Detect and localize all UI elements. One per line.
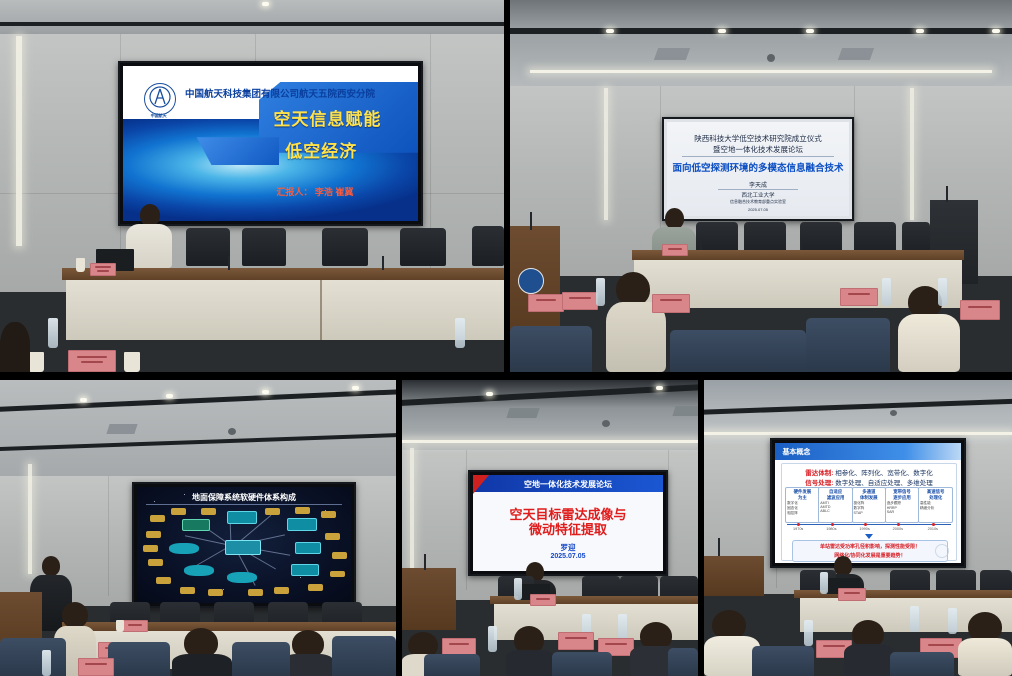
slide-event-line2: 暨空地一体化技术发展论坛 bbox=[667, 144, 849, 155]
mindmap-leaf bbox=[150, 515, 165, 522]
chair bbox=[186, 228, 230, 266]
mindmap-node bbox=[227, 572, 257, 584]
concept-column: 硬件发展 为主 数字化 固态化 相控阵 bbox=[785, 487, 820, 523]
ceiling-vent bbox=[838, 48, 874, 60]
water-bottle bbox=[882, 278, 891, 306]
audience-seat bbox=[0, 638, 66, 676]
row2-value: 数字处理、自适应处理、多维处理 bbox=[835, 480, 933, 487]
presentation-screen: 陕西科技大学低空技术研究院成立仪式 暨空地一体化技术发展论坛 面向低空探测环境的… bbox=[662, 117, 854, 221]
mindmap-leaf bbox=[308, 584, 323, 591]
ceiling bbox=[510, 0, 1012, 86]
mindmap-leaf bbox=[180, 587, 195, 594]
audience-member bbox=[606, 272, 666, 372]
ceiling-spot bbox=[656, 386, 663, 390]
audience-head bbox=[62, 602, 88, 628]
concept-column: 多通道 体制发展 极化阵 数字阵 STAP bbox=[852, 487, 887, 523]
name-placard bbox=[840, 288, 878, 306]
timeline-dot bbox=[797, 523, 800, 526]
timeline-dot bbox=[831, 523, 834, 526]
mindmap-leaf bbox=[274, 587, 289, 594]
column-item: STAP bbox=[854, 511, 885, 515]
wall-seam bbox=[466, 450, 467, 590]
conference-table-body bbox=[66, 280, 504, 340]
mindmap-leaf bbox=[295, 507, 310, 514]
audience-seat bbox=[424, 654, 480, 676]
slide-presenter: 罗迎 bbox=[473, 542, 663, 553]
cup bbox=[76, 258, 85, 272]
slide-header-text: 基本概念 bbox=[782, 447, 810, 457]
callout-line2: 网络化/协同化发展是重要趋势！ bbox=[793, 552, 947, 559]
podium bbox=[402, 568, 456, 630]
table-panel-seam bbox=[320, 280, 322, 340]
water-bottle bbox=[488, 626, 497, 652]
panel-bottom-center: 空地一体化技术发展论坛 空天目标雷达成像与 微动特征提取 罗迎 2025.07.… bbox=[402, 380, 698, 676]
meeting-room-scene: 陕西科技大学低空技术研究院成立仪式 暨空地一体化技术发展论坛 面向低空探测环境的… bbox=[510, 0, 1012, 372]
slide-row1: 雷达体制: 相参化、阵列化、宽带化、数字化 bbox=[782, 467, 957, 477]
audience-torso bbox=[844, 644, 894, 676]
name-placard bbox=[78, 658, 114, 676]
microphone-stand bbox=[718, 538, 720, 556]
slide-canvas: 空地一体化技术发展论坛 空天目标雷达成像与 微动特征提取 罗迎 2025.07.… bbox=[473, 475, 663, 571]
callout-line1: 单站雷达受功率孔径积影响，探测性能受限！ bbox=[793, 543, 947, 550]
microphone bbox=[800, 238, 802, 250]
mindmap-node bbox=[227, 511, 257, 523]
slide-affiliation: 西北工业大学 bbox=[667, 191, 849, 199]
speaker-head bbox=[665, 208, 684, 229]
chair bbox=[472, 226, 504, 266]
name-placard bbox=[562, 292, 598, 310]
audience-head bbox=[0, 322, 30, 372]
slide-presenter-line: 汇报人： 李浩 崔冀 bbox=[276, 185, 353, 198]
timeline-year: 2000s bbox=[886, 527, 909, 531]
water-bottle bbox=[618, 614, 627, 640]
panel-top-right: 陕西科技大学低空技术研究院成立仪式 暨空地一体化技术发展论坛 面向低空探测环境的… bbox=[510, 0, 1012, 372]
ceiling-strip bbox=[0, 22, 504, 26]
microphone bbox=[228, 256, 230, 270]
mindmap-leaf bbox=[171, 508, 186, 515]
cup bbox=[124, 352, 140, 372]
slide-divider bbox=[682, 156, 835, 157]
cove-light bbox=[16, 36, 22, 246]
mindmap-node bbox=[295, 542, 321, 554]
slide-main-title: 面向低空探测环境的多模态信息融合技术 bbox=[667, 160, 849, 174]
mindmap-core-node bbox=[225, 540, 261, 555]
water-bottle bbox=[48, 318, 58, 348]
audience-seat bbox=[670, 330, 806, 372]
logo-label: 中国航天 bbox=[144, 113, 174, 119]
ceiling-vent bbox=[106, 424, 137, 434]
speaker-head bbox=[140, 204, 160, 226]
slide-divider-short bbox=[718, 189, 798, 190]
audience-member bbox=[172, 628, 232, 676]
mindmap-leaf bbox=[321, 511, 336, 518]
microphone bbox=[382, 256, 384, 270]
presentation-screen: 空地一体化技术发展论坛 空天目标雷达成像与 微动特征提取 罗迎 2025.07.… bbox=[468, 470, 668, 576]
cas-logo-icon bbox=[144, 83, 176, 115]
ceiling-spot bbox=[80, 398, 87, 402]
slide-forum-opening: 陕西科技大学低空技术研究院成立仪式 暨空地一体化技术发展论坛 面向低空探测环境的… bbox=[667, 122, 849, 216]
wall-seam bbox=[108, 476, 109, 596]
row2-label: 信号处理: bbox=[805, 480, 833, 487]
slide-title-line2: 低空经济 bbox=[285, 137, 357, 162]
ceiling-spot bbox=[718, 29, 726, 33]
meeting-room-scene: 基本概念 雷达体制: 相参化、阵列化、宽带化、数字化 信号处理: 数字处理、自适… bbox=[704, 380, 1012, 676]
slide-title-line1: 空天信息赋能 bbox=[273, 105, 381, 130]
photo-collage: 中国航天 中国航天科技集团有限公司航天五院西安分院 空天信息赋能 低空经济 汇报… bbox=[0, 0, 1012, 676]
audience-member bbox=[958, 612, 1012, 676]
timeline-year: 1970s bbox=[787, 527, 810, 531]
timeline-year: 2010s bbox=[921, 527, 944, 531]
timeline-axis bbox=[787, 524, 951, 525]
concept-column: 宽带信号 逐步应用 逐步跟踪 HRRP SAR bbox=[885, 487, 920, 523]
podium-microphone bbox=[530, 212, 532, 230]
meeting-room-scene: 地面保障系统软硬件体系构成 bbox=[0, 380, 396, 676]
down-arrow-icon bbox=[865, 534, 873, 539]
ceiling-spot bbox=[166, 394, 173, 398]
slide-mindmap: 地面保障系统软硬件体系构成 bbox=[137, 487, 351, 603]
speaker-head bbox=[42, 556, 60, 576]
cove-light-vertical bbox=[410, 448, 414, 568]
cup bbox=[28, 352, 44, 372]
mindmap-leaf bbox=[208, 589, 223, 596]
ceiling-spot bbox=[916, 29, 924, 33]
audience-seat bbox=[890, 652, 954, 676]
name-placard bbox=[68, 350, 116, 372]
meeting-room-scene: 中国航天 中国航天科技集团有限公司航天五院西安分院 空天信息赋能 低空经济 汇报… bbox=[0, 0, 504, 372]
mindmap-node bbox=[184, 565, 214, 577]
name-placard bbox=[90, 263, 116, 276]
slide-canvas: 中国航天 中国航天科技集团有限公司航天五院西安分院 空天信息赋能 低空经济 汇报… bbox=[123, 66, 418, 221]
mindmap-leaf bbox=[265, 508, 280, 515]
conclusion-callout: 单站雷达受功率孔径积影响，探测性能受限！ 网络化/协同化发展是重要趋势！ bbox=[792, 540, 948, 562]
slide-event-line1: 陕西科技大学低空技术研究院成立仪式 bbox=[667, 133, 849, 144]
water-bottle bbox=[938, 278, 947, 306]
meeting-room-scene: 空地一体化技术发展论坛 空天目标雷达成像与 微动特征提取 罗迎 2025.07.… bbox=[402, 380, 698, 676]
audience-seat bbox=[232, 642, 290, 676]
slide-basic-concepts: 基本概念 雷达体制: 相参化、阵列化、宽带化、数字化 信号处理: 数字处理、自适… bbox=[775, 443, 961, 563]
ceiling-spot bbox=[486, 392, 493, 396]
microphone-stand bbox=[946, 186, 948, 202]
ceiling-light bbox=[262, 2, 269, 6]
slide-title-rule bbox=[146, 504, 343, 505]
podium-microphone bbox=[424, 554, 426, 570]
mindmap-leaf bbox=[148, 559, 163, 566]
presentation-screen: 中国航天 中国航天科技集团有限公司航天五院西安分院 空天信息赋能 低空经济 汇报… bbox=[118, 61, 423, 226]
mindmap-leaf bbox=[325, 533, 340, 540]
mindmap-leaf bbox=[332, 552, 347, 559]
ceiling-vent bbox=[506, 408, 539, 418]
concept-column: 高速信号 处理化 高性能 精细分析 bbox=[918, 487, 953, 523]
side-desk bbox=[704, 556, 764, 596]
audience-torso bbox=[958, 638, 1012, 676]
water-bottle bbox=[804, 620, 813, 646]
water-bottle bbox=[910, 606, 919, 632]
water-bottle bbox=[455, 318, 465, 348]
audience-member bbox=[506, 626, 554, 676]
slide-canvas: 陕西科技大学低空技术研究院成立仪式 暨空地一体化技术发展论坛 面向低空探测环境的… bbox=[667, 122, 849, 216]
cove-light-vertical bbox=[910, 88, 914, 220]
timeline-year: 1990s bbox=[853, 527, 876, 531]
ceiling-spot bbox=[262, 390, 269, 394]
ceiling-spot bbox=[352, 386, 359, 390]
column-item: 相控阵 bbox=[787, 511, 818, 516]
panel-top-left: 中国航天 中国航天科技集团有限公司航天五院西安分院 空天信息赋能 低空经济 汇报… bbox=[0, 0, 504, 372]
mindmap-leaf bbox=[201, 508, 216, 515]
name-placard bbox=[558, 632, 594, 650]
column-item: ABLC bbox=[820, 509, 851, 513]
cove-light bbox=[704, 432, 1012, 435]
audience-seat bbox=[668, 648, 698, 676]
mindmap-leaf bbox=[143, 545, 158, 552]
column-item: SAR bbox=[887, 510, 918, 514]
dome-camera-icon bbox=[602, 420, 610, 427]
slide-header-text: 空地一体化技术发展论坛 bbox=[473, 479, 663, 490]
column-item: 精细分析 bbox=[920, 506, 951, 511]
name-placard bbox=[838, 588, 866, 601]
timeline-dot bbox=[932, 523, 935, 526]
mindmap-node bbox=[291, 564, 319, 576]
audience-head bbox=[616, 272, 650, 306]
audience-seat bbox=[552, 652, 612, 676]
name-placard bbox=[662, 244, 688, 256]
name-placard bbox=[528, 294, 564, 312]
audience-torso bbox=[898, 314, 960, 372]
audience-seat bbox=[806, 318, 890, 372]
slide-header-bar: 空地一体化技术发展论坛 bbox=[473, 475, 663, 492]
slide-title-line2: 微动特征提取 bbox=[473, 519, 663, 538]
name-placard bbox=[652, 294, 690, 313]
mindmap-node bbox=[287, 518, 317, 530]
cove-light bbox=[530, 70, 992, 73]
presentation-screen: 地面保障系统软硬件体系构成 bbox=[132, 482, 356, 608]
water-bottle bbox=[42, 650, 51, 676]
panel-bottom-right: 基本概念 雷达体制: 相参化、阵列化、宽带化、数字化 信号处理: 数字处理、自适… bbox=[704, 380, 1012, 676]
mindmap-leaf bbox=[146, 531, 161, 538]
slide-canvas: 基本概念 雷达体制: 相参化、阵列化、宽带化、数字化 信号处理: 数字处理、自适… bbox=[775, 443, 961, 563]
audience-member bbox=[844, 620, 894, 676]
dome-camera-icon bbox=[767, 54, 775, 62]
slide-title: 地面保障系统软硬件体系构成 bbox=[137, 492, 351, 503]
timeline-year: 1980s bbox=[820, 527, 843, 531]
slide-row2: 信号处理: 数字处理、自适应处理、多维处理 bbox=[782, 477, 957, 487]
ceiling-vent bbox=[672, 406, 698, 416]
slide-header-bar: 基本概念 bbox=[775, 443, 961, 460]
concept-column: 自适应 滤波应用 AMTI AMTD ABLC bbox=[818, 487, 853, 523]
cove-light-vertical bbox=[604, 88, 608, 220]
chair bbox=[322, 228, 368, 266]
audience-seat bbox=[108, 642, 170, 676]
ceiling-vent bbox=[654, 48, 690, 60]
speaker-head bbox=[834, 556, 852, 576]
water-bottle bbox=[596, 278, 605, 306]
mindmap-leaf bbox=[156, 577, 171, 584]
mindmap-leaf bbox=[248, 589, 263, 596]
ceiling-spot bbox=[992, 29, 1000, 33]
audience-seat bbox=[510, 326, 592, 372]
mindmap-leaf bbox=[330, 571, 345, 578]
ceiling-spot bbox=[806, 29, 814, 33]
ceiling-spot bbox=[606, 29, 614, 33]
mindmap-node bbox=[182, 519, 210, 530]
audience-member bbox=[898, 286, 960, 372]
water-bottle bbox=[820, 572, 828, 594]
mindmap-node bbox=[169, 543, 199, 555]
name-placard bbox=[960, 300, 1000, 320]
presentation-screen: 基本概念 雷达体制: 相参化、阵列化、宽带化、数字化 信号处理: 数字处理、自适… bbox=[770, 438, 966, 568]
chair bbox=[242, 228, 286, 266]
cove-light bbox=[402, 440, 698, 443]
timeline-dot bbox=[897, 523, 900, 526]
name-placard bbox=[122, 620, 148, 632]
timeline-dot bbox=[864, 523, 867, 526]
slide-canvas: 地面保障系统软硬件体系构成 bbox=[137, 487, 351, 603]
audience-seat bbox=[332, 636, 396, 676]
name-placard bbox=[530, 594, 556, 606]
slide-org-line: 中国航天科技集团有限公司航天五院西安分院 bbox=[185, 86, 375, 100]
water-bottle bbox=[514, 578, 522, 600]
audience-torso bbox=[172, 654, 232, 676]
slide-aerospace-title: 中国航天 中国航天科技集团有限公司航天五院西安分院 空天信息赋能 低空经济 汇报… bbox=[123, 66, 418, 221]
university-emblem-icon bbox=[518, 268, 544, 294]
water-bottle bbox=[948, 608, 957, 634]
slide-radar-title: 空地一体化技术发展论坛 空天目标雷达成像与 微动特征提取 罗迎 2025.07.… bbox=[473, 475, 663, 571]
wall-seam bbox=[668, 450, 669, 590]
chair bbox=[400, 228, 446, 266]
cup bbox=[116, 620, 124, 632]
dome-camera-icon bbox=[228, 428, 236, 435]
slide-content-box: 雷达体制: 相参化、阵列化、宽带化、数字化 信号处理: 数字处理、自适应处理、多… bbox=[781, 463, 958, 561]
panel-bottom-left: 地面保障系统软硬件体系构成 bbox=[0, 380, 396, 676]
microphone bbox=[700, 238, 702, 250]
ceiling bbox=[0, 0, 504, 34]
audience-torso bbox=[506, 650, 554, 676]
dome-camera-icon bbox=[890, 410, 897, 416]
audience-seat bbox=[752, 646, 814, 676]
slide-date: 2025.07.05 bbox=[473, 553, 663, 560]
ceiling-strip bbox=[510, 28, 1012, 34]
slide-lab: 信息融合技术教育部重点实验室 bbox=[667, 199, 849, 205]
microphone bbox=[902, 238, 904, 250]
